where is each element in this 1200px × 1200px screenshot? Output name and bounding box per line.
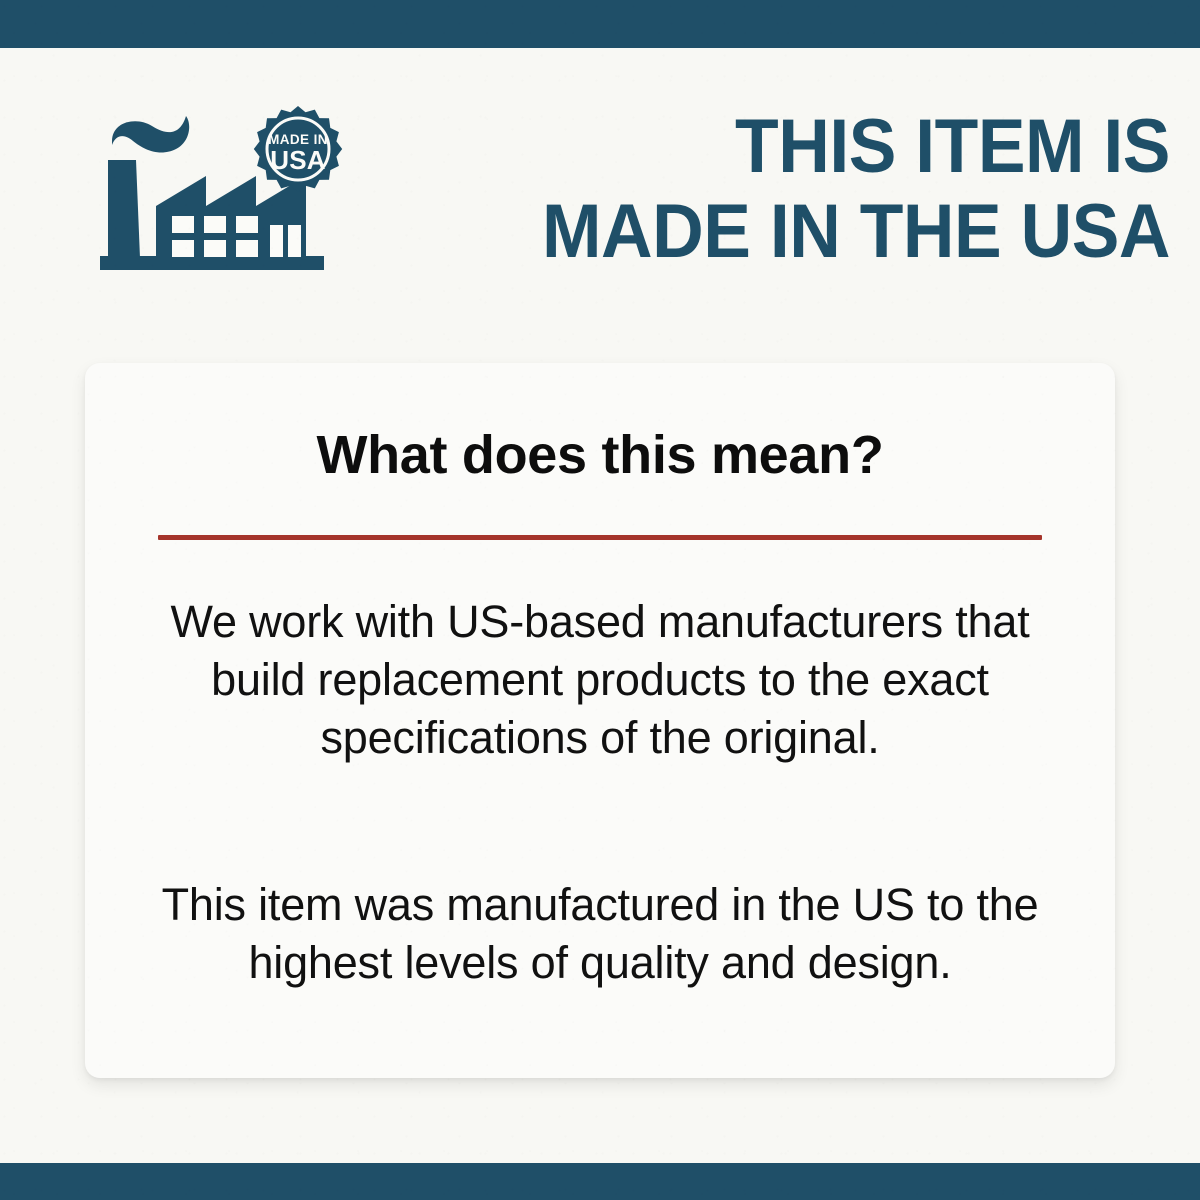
made-in-usa-logo: MADE IN USA	[100, 98, 350, 273]
header: MADE IN USA THIS ITEM IS MADE IN THE USA	[0, 48, 1200, 298]
card-paragraph-2: This item was manufactured in the US to …	[140, 876, 1060, 992]
smoke-plume-icon	[112, 116, 189, 153]
explanation-card: What does this mean? We work with US-bas…	[85, 363, 1115, 1078]
bottom-accent-bar	[0, 1163, 1200, 1200]
card-heading: What does this mean?	[85, 425, 1115, 485]
made-in-usa-banner: MADE IN USA THIS ITEM IS MADE IN THE USA…	[0, 0, 1200, 1200]
card-paragraph-1: We work with US-based manufacturers that…	[140, 593, 1060, 767]
top-accent-bar	[0, 0, 1200, 48]
badge-line-2: USA	[270, 145, 326, 175]
card-divider	[158, 535, 1042, 540]
made-in-usa-badge-icon: MADE IN USA	[254, 106, 342, 192]
factory-icon: MADE IN USA	[100, 98, 350, 273]
page-title-line-1: THIS ITEM IS	[427, 104, 1170, 189]
page-title-line-2: MADE IN THE USA	[427, 189, 1170, 274]
page-title: THIS ITEM IS MADE IN THE USA	[427, 104, 1170, 274]
